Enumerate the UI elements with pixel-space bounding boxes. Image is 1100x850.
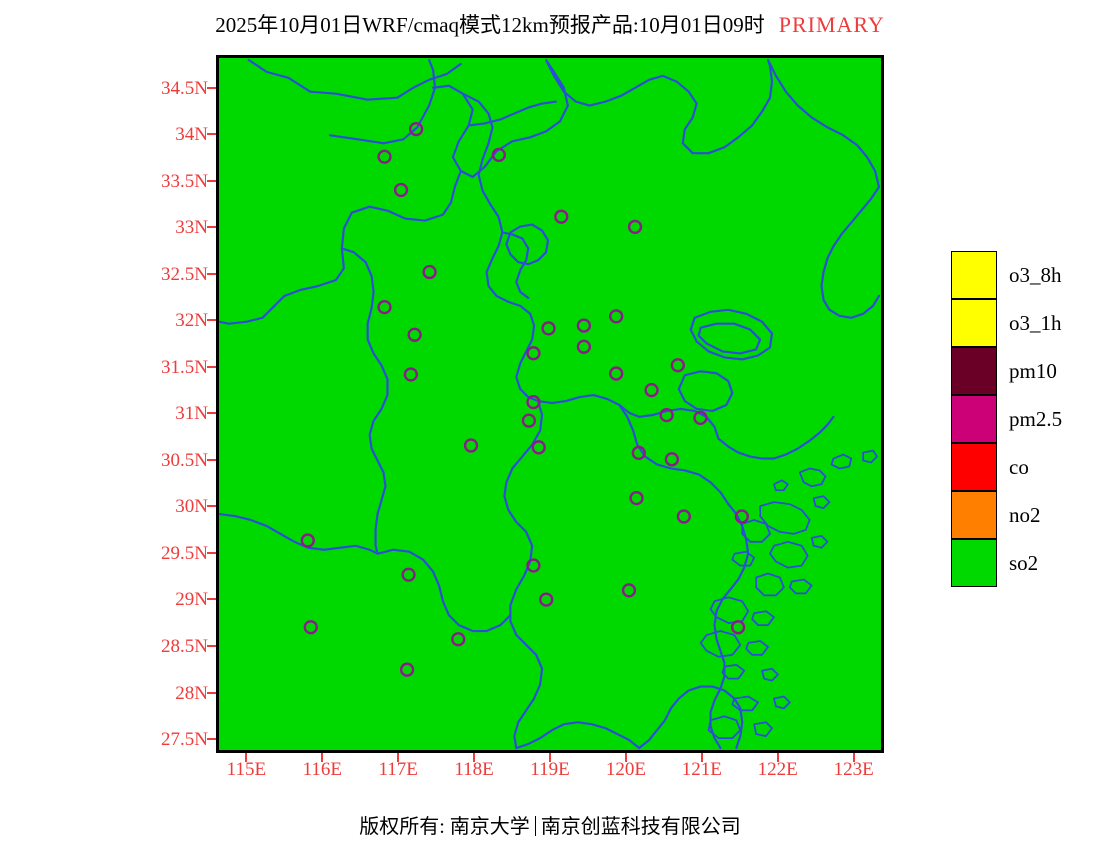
pollutant-legend: o3_8ho3_1hpm10pm2.5cono2so2 [951,251,1091,587]
map-canvas[interactable] [219,58,881,750]
legend-color-swatch [951,251,997,299]
y-axis-tick-mark [207,692,216,694]
footer-separator [535,816,536,836]
y-axis-tick-mark [207,505,216,507]
y-axis-tick-mark [207,226,216,228]
legend-item-so2[interactable]: so2 [951,539,1091,587]
y-axis-tick-mark [207,87,216,89]
legend-item-label: so2 [1009,553,1038,574]
y-axis-tick-mark [207,273,216,275]
y-axis-tick-mark [207,180,216,182]
x-axis-tick-label: 116E [303,760,342,779]
y-axis-tick-mark [207,598,216,600]
legend-item-label: no2 [1009,505,1041,526]
x-axis-tick-label: 118E [454,760,493,779]
legend-item-label: co [1009,457,1029,478]
y-axis-tick-mark [207,552,216,554]
legend-item-o3-8h[interactable]: o3_8h [951,251,1091,299]
copyright-footer: 版权所有: 南京大学南京创蓝科技有限公司 [0,810,1100,839]
x-axis-tick-label: 117E [378,760,417,779]
legend-item-label: o3_8h [1009,265,1062,286]
footer-left-text: 版权所有: 南京大学 [359,816,530,838]
page-title: 2025年10月01日WRF/cmaq模式12km预报产品:10月01日09时P… [0,12,1100,38]
legend-item-label: pm2.5 [1009,409,1062,430]
x-axis-tick-label: 121E [682,760,722,779]
legend-item-label: o3_1h [1009,313,1062,334]
x-axis-tick-label: 115E [227,760,266,779]
legend-item-co[interactable]: co [951,443,1091,491]
y-axis-tick-mark [207,738,216,740]
legend-item-o3-1h[interactable]: o3_1h [951,299,1091,347]
x-axis-labels: 115E116E117E118E119E120E121E122E123E [216,760,884,790]
y-axis-tick-mark [207,319,216,321]
x-axis-tick-label: 119E [530,760,569,779]
legend-item-pm10[interactable]: pm10 [951,347,1091,395]
y-axis-labels: 34.5N34N33.5N33N32.5N32N31.5N31N30.5N30N… [110,55,208,753]
legend-item-pm2-5[interactable]: pm2.5 [951,395,1091,443]
legend-color-swatch [951,347,997,395]
y-axis-tick-mark [207,645,216,647]
legend-color-swatch [951,443,997,491]
legend-item-label: pm10 [1009,361,1057,382]
y-axis-tick-mark [207,366,216,368]
title-primary-label: PRIMARY [779,12,885,37]
x-axis-tick-label: 122E [758,760,798,779]
footer-right-text: 南京创蓝科技有限公司 [541,816,741,838]
legend-color-swatch [951,539,997,587]
x-axis-tick-label: 120E [606,760,646,779]
legend-color-swatch [951,395,997,443]
map-background-so2 [219,58,881,750]
y-axis-tickmarks [200,55,216,753]
legend-color-swatch [951,491,997,539]
title-text: 2025年10月01日WRF/cmaq模式12km预报产品:10月01日09时 [215,13,765,37]
legend-color-swatch [951,299,997,347]
y-axis-tick-mark [207,133,216,135]
y-axis-tick-mark [207,412,216,414]
legend-item-no2[interactable]: no2 [951,491,1091,539]
y-axis-tick-mark [207,459,216,461]
map-plot-frame[interactable] [216,55,884,753]
x-axis-tick-label: 123E [834,760,874,779]
